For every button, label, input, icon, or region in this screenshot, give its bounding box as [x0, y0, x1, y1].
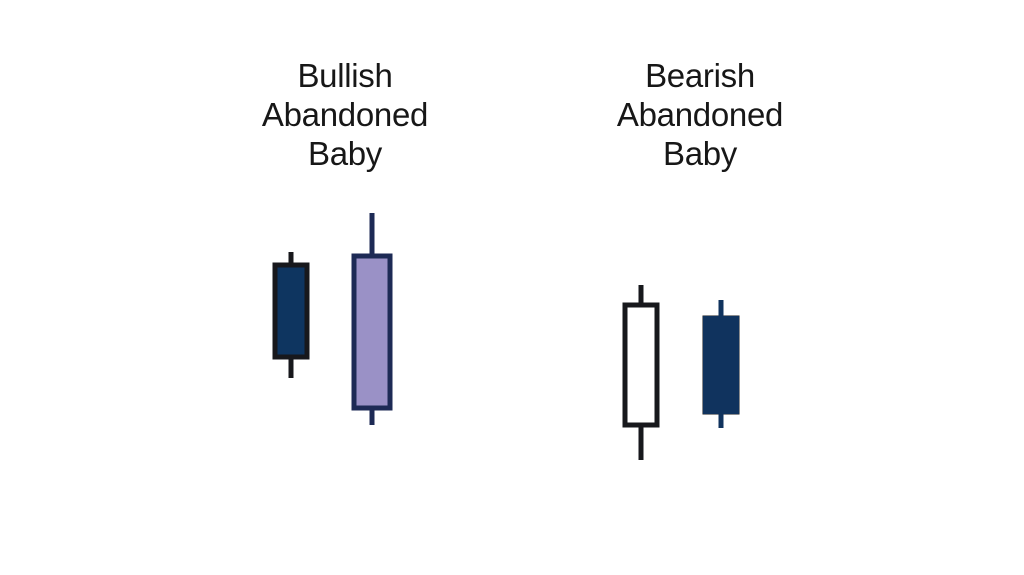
- candle-body: [275, 265, 307, 357]
- pattern-panel-bullish-abandoned-baby: Bullish Abandoned Baby: [190, 0, 500, 575]
- candle-body: [354, 256, 390, 408]
- candle-bearish-1-long-bullish: [625, 285, 657, 460]
- candle-bullish-2-gap-down-doji: [354, 213, 390, 425]
- candlestick-chart-bearish: [545, 0, 855, 575]
- candle-body: [705, 318, 737, 412]
- candlestick-svg-bullish: [190, 0, 500, 575]
- pattern-panel-bearish-abandoned-baby: Bearish Abandoned Baby: [545, 0, 855, 575]
- candlestick-svg-bearish: [545, 0, 855, 575]
- candlestick-pattern-figure: Bullish Abandoned Baby: [0, 0, 1024, 575]
- candlestick-chart-bullish: [190, 0, 500, 575]
- candle-body: [625, 305, 657, 425]
- candle-bearish-2-gap-up-doji: [705, 300, 737, 428]
- candle-bullish-1-long-bearish: [275, 252, 307, 378]
